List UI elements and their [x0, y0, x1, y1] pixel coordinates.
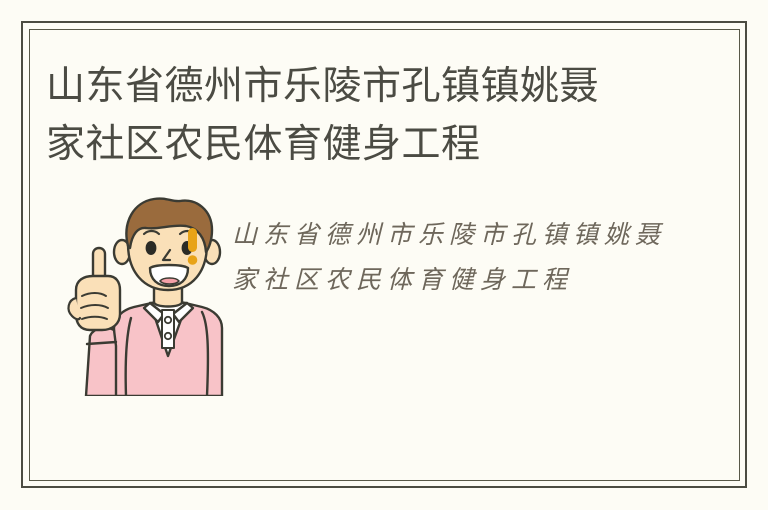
handwriting-line-1: 山东省德州市乐陵市孔镇镇姚聂 — [232, 212, 702, 257]
handwriting-caption: 山东省德州市乐陵市孔镇镇姚聂 家社区农民体育健身工程 — [232, 212, 702, 302]
handwriting-line-2: 家社区农民体育健身工程 — [232, 257, 702, 302]
title-line-2: 家社区农民体育健身工程 — [46, 116, 646, 174]
page-title: 山东省德州市乐陵市孔镇镇姚聂 家社区农民体育健身工程 — [46, 58, 646, 174]
exclamation-icon — [188, 228, 198, 265]
pointing-man-illustration — [46, 196, 236, 396]
title-line-1: 山东省德州市乐陵市孔镇镇姚聂 — [46, 58, 646, 116]
poster-canvas: 山东省德州市乐陵市孔镇镇姚聂 家社区农民体育健身工程 — [0, 0, 768, 510]
content-row: 山东省德州市乐陵市孔镇镇姚聂 家社区农民体育健身工程 — [46, 196, 706, 396]
